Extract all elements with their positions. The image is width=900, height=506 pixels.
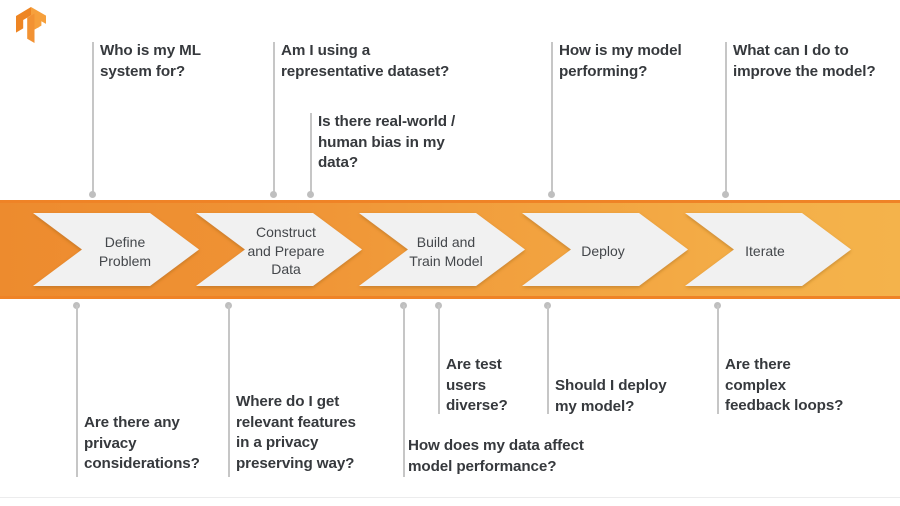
stage-label-build-and-train-model: Build and Train Model bbox=[388, 233, 504, 270]
connector-line bbox=[717, 305, 719, 414]
connector-dot bbox=[722, 191, 729, 198]
connector-dot bbox=[270, 191, 277, 198]
stage-label-define-problem: Define Problem bbox=[70, 233, 180, 270]
tensorflow-logo bbox=[14, 7, 48, 43]
question-is-there-real-world-human-bias-in-my-data: Is there real-world / human bias in my d… bbox=[318, 112, 508, 174]
footer-divider bbox=[0, 497, 900, 498]
connector-line bbox=[725, 42, 727, 196]
connector-dot bbox=[548, 191, 555, 198]
question-what-can-i-do-to-improve-the-model: What can I do to improve the model? bbox=[733, 41, 900, 82]
question-where-do-i-get-relevant-features-in-a-privacy-preserving-way: Where do I get relevant features in a pr… bbox=[236, 392, 401, 474]
connector-line bbox=[547, 305, 549, 414]
question-are-test-users-diverse: Are test users diverse? bbox=[446, 355, 546, 417]
connector-dot bbox=[307, 191, 314, 198]
stage-label-construct-and-prepare-data: Construct and Prepare Data bbox=[228, 223, 344, 279]
connector-line bbox=[551, 42, 553, 196]
question-who-is-my-ml-system-for: Who is my ML system for? bbox=[100, 41, 275, 82]
connector-line bbox=[310, 113, 312, 196]
question-how-is-my-model-performing: How is my model performing? bbox=[559, 41, 724, 82]
stage-label-deploy: Deploy bbox=[548, 242, 658, 261]
question-should-i-deploy-my-model: Should I deploy my model? bbox=[555, 376, 715, 417]
connector-line bbox=[76, 305, 78, 477]
question-are-there-any-privacy-considerations: Are there any privacy considerations? bbox=[84, 413, 229, 475]
connector-line bbox=[92, 42, 94, 196]
connector-line bbox=[438, 305, 440, 414]
slide-canvas: Who is my ML system for? Am I using a re… bbox=[0, 0, 900, 506]
stage-label-iterate: Iterate bbox=[710, 242, 820, 261]
connector-dot bbox=[89, 191, 96, 198]
connector-line bbox=[403, 305, 405, 477]
question-am-i-using-a-representative-dataset: Am I using a representative dataset? bbox=[281, 41, 496, 82]
question-how-does-my-data-affect-model-performance: How does my data affect model performanc… bbox=[408, 436, 638, 477]
question-are-there-complex-feedback-loops: Are there complex feedback loops? bbox=[725, 355, 885, 417]
